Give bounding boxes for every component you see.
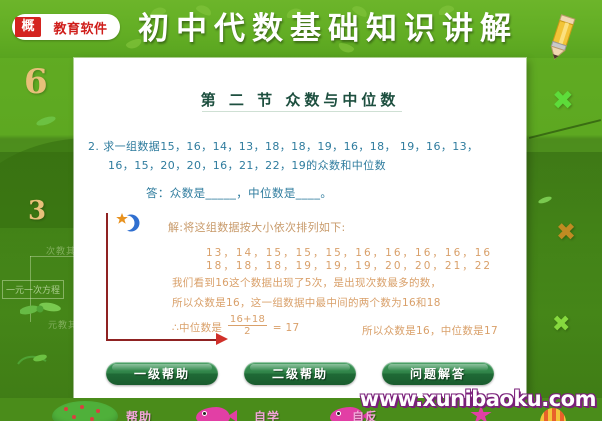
sorted-data-row-2: 18，18，18，19，19，19，20，20，21，22 bbox=[206, 258, 492, 273]
bush-decor-icon bbox=[52, 401, 118, 421]
decor-multiply-gold-icon: ✖ bbox=[556, 218, 576, 246]
ghost-connector-line bbox=[30, 256, 31, 322]
solution-conclusion: ∴中位数是 16+18 2 = 17 bbox=[172, 317, 300, 339]
decor-branch-line bbox=[529, 119, 601, 139]
sprout-icon bbox=[34, 112, 64, 124]
application-window: 概 教育软件 初中代数基础知识讲解 6 3 次教其 一元一次方程 元教其 bbox=[0, 0, 602, 421]
decor-digit-three: 3 bbox=[28, 196, 46, 226]
solution-bracket-vertical bbox=[106, 213, 108, 341]
solution-bracket-horizontal bbox=[106, 339, 218, 341]
sprout-icon bbox=[536, 190, 554, 200]
footer-nav-self-study[interactable]: 自学 bbox=[254, 408, 280, 421]
answer-prompt: 答：众数是_____，中位数是____。 bbox=[146, 185, 332, 201]
sprout-icon bbox=[20, 300, 62, 316]
page-title: 初中代数基础知识讲解 bbox=[128, 4, 528, 54]
site-watermark: www.xunibaoku.com bbox=[360, 387, 596, 411]
decor-multiply-lime-icon: ✖ bbox=[552, 312, 570, 337]
question-answer-button[interactable]: 问题解答 bbox=[382, 362, 494, 385]
star-moon-icon bbox=[114, 212, 140, 234]
sprout-icon bbox=[16, 352, 50, 366]
solution-note: 所以众数是16，中位数是17 bbox=[362, 323, 498, 338]
lesson-title: 第 二 节 众数与中位数 bbox=[74, 89, 526, 110]
lesson-content-sheet: 第 二 节 众数与中位数 2. 求一组数据15，16，14，13，18，18，1… bbox=[74, 58, 526, 398]
solution-heading: 解:将这组数据按大小依次排列如下: bbox=[168, 219, 346, 235]
conclusion-suffix: = 17 bbox=[273, 322, 300, 334]
logo-mark-icon: 概 bbox=[15, 17, 41, 37]
solution-explain-1: 我们看到16这个数据出现了5次，是出现次数最多的数， bbox=[172, 275, 441, 290]
ghost-label-top: 次教其 bbox=[46, 244, 76, 257]
median-fraction: 16+18 2 bbox=[228, 315, 267, 337]
ghost-label-equation: 一元一次方程 bbox=[2, 280, 64, 299]
solution-explain-2: 所以众数是16，这一组数据中最中间的两个数为16和18 bbox=[172, 295, 441, 310]
problem-line-1: 2. 求一组数据15，16，14，13，18，18，19，16，18， 19，1… bbox=[88, 138, 478, 154]
solution-panel: 解:将这组数据按大小依次排列如下: 13，14，15，15，15，16，16，1… bbox=[106, 213, 506, 353]
level-two-help-button[interactable]: 二级帮助 bbox=[244, 362, 356, 385]
decor-digit-six: 6 bbox=[24, 62, 48, 102]
level-one-help-button[interactable]: 一级帮助 bbox=[106, 362, 218, 385]
brand-logo[interactable]: 概 教育软件 bbox=[12, 14, 120, 40]
app-footer: 帮助 自学 自反 www.xunibaoku.com bbox=[0, 398, 602, 421]
conclusion-prefix: ∴中位数是 bbox=[172, 322, 222, 334]
fraction-denominator: 2 bbox=[228, 325, 267, 337]
fraction-numerator: 16+18 bbox=[228, 315, 267, 325]
help-button-row: 一级帮助 二级帮助 问题解答 bbox=[74, 356, 526, 390]
problem-line-2: 16，15，20，20，16，21，22，19的众数和中位数 bbox=[108, 157, 386, 173]
lesson-title-rule bbox=[202, 111, 402, 112]
footer-nav-help[interactable]: 帮助 bbox=[126, 408, 152, 421]
logo-text: 教育软件 bbox=[41, 18, 120, 37]
app-header: 概 教育软件 初中代数基础知识讲解 bbox=[0, 0, 602, 58]
pencil-icon bbox=[540, 12, 584, 60]
decor-multiply-green-icon: ✖ bbox=[552, 86, 574, 116]
fish-decor-icon bbox=[196, 407, 230, 421]
